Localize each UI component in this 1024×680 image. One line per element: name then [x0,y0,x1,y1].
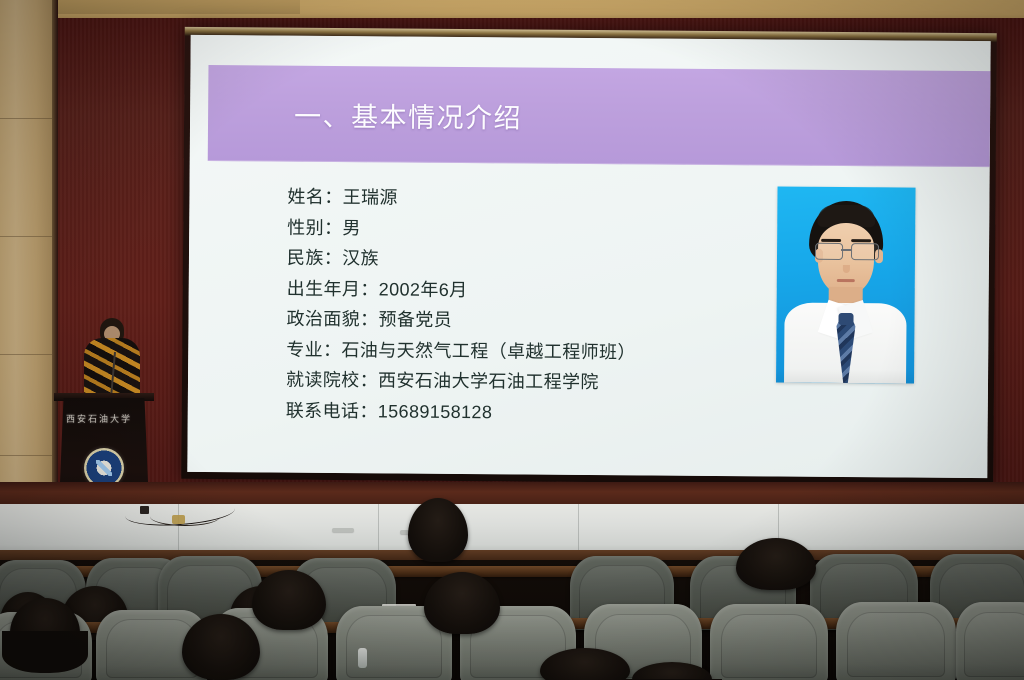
audience-head-mid-1 [10,598,80,658]
portrait-tie-knot [838,313,853,325]
slide-line-gender: 性别：男 [287,212,717,246]
slide-line-birthdate: 出生年月：2002年6月 [287,273,717,307]
id-portrait-photo [776,186,916,383]
audience-head-mid-4 [424,572,500,634]
podium-university-label: 西安石油大学 [66,412,142,425]
slide-title: 一、基本情况介绍 [294,94,522,135]
seat-mid-8 [836,602,956,680]
seat-mid-9 [956,602,1024,680]
stone-column-left [0,0,52,520]
cable-clamp [140,506,149,514]
slide-line-phone: 联系电话：15689158128 [286,395,716,429]
cable-connector [172,515,185,524]
water-bottle [358,648,367,668]
slide-line-school: 就读院校：西安石油大学石油工程学院 [286,365,716,399]
column-edge-shadow [52,0,58,520]
audience-head-mid-3 [252,570,326,630]
projection-screen-surface: 一、基本情况介绍 姓名：王瑞源 性别：男 民族：汉族 出生年月：2002年6月 … [187,35,990,478]
floor-cable-b [150,507,220,526]
presentation-slide: 一、基本情况介绍 姓名：王瑞源 性别：男 民族：汉族 出生年月：2002年6月 … [187,35,990,478]
portrait-nose [843,265,850,273]
slide-title-band: 一、基本情况介绍 [208,65,991,167]
seat-mid-7 [710,604,828,680]
lecture-hall-photo: 一、基本情况介绍 姓名：王瑞源 性别：男 民族：汉族 出生年月：2002年6月 … [0,0,1024,680]
slide-body-list: 姓名：王瑞源 性别：男 民族：汉族 出生年月：2002年6月 政治面貌：预备党员… [286,182,718,429]
portrait-mouth [837,279,855,282]
slide-line-major: 专业：石油与天然气工程（卓越工程师班） [286,334,716,368]
projection-screen-frame: 一、基本情况介绍 姓名：王瑞源 性别：男 民族：汉族 出生年月：2002年6月 … [181,27,997,485]
slide-line-ethnicity: 民族：汉族 [287,243,717,277]
portrait-eyebrow-right [851,239,871,242]
audience-head-right-tall [736,538,816,590]
slide-line-name: 姓名：王瑞源 [287,182,717,216]
portrait-glasses [813,243,879,259]
portrait-eyebrow-left [821,239,841,242]
slide-line-political: 政治面貌：预备党员 [286,304,716,338]
